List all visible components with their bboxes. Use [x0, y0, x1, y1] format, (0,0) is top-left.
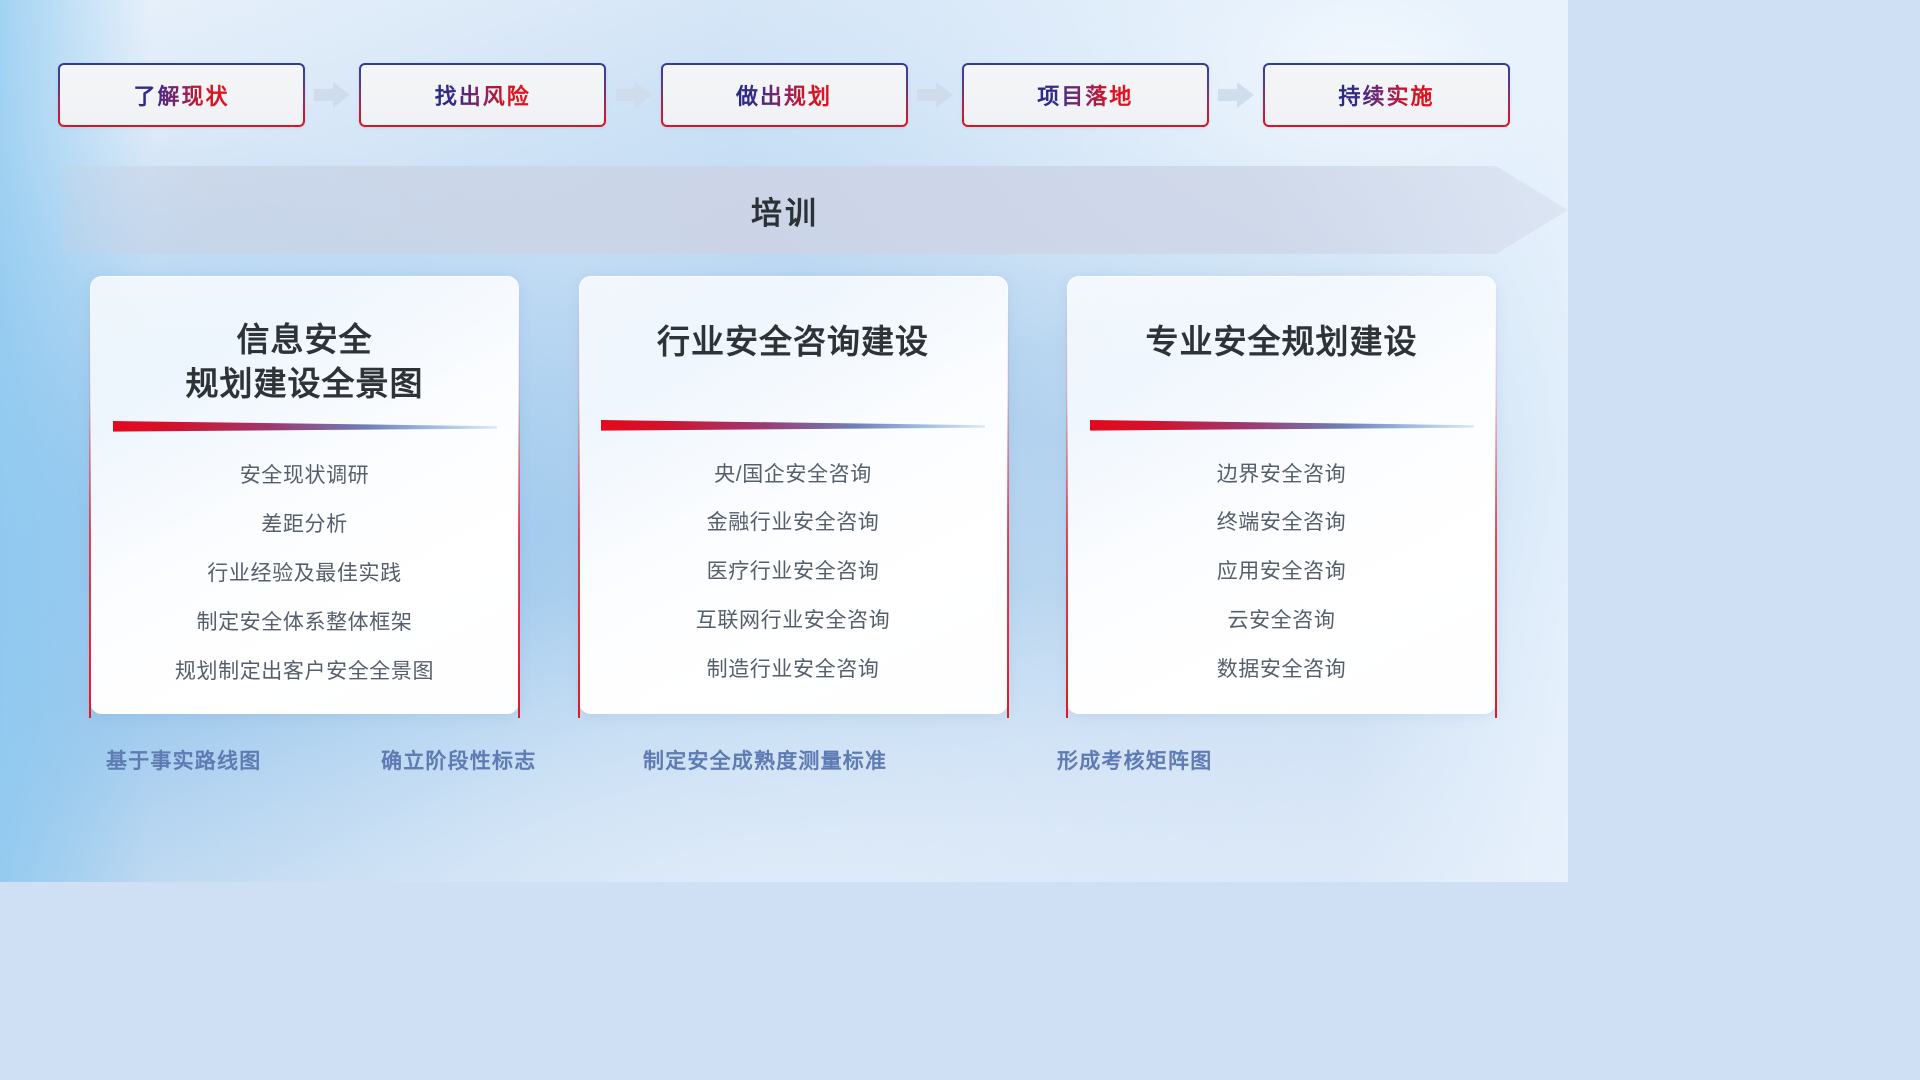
- service-card-list: 央/国企安全咨询金融行业安全咨询医疗行业安全咨询互联网行业安全咨询制造行业安全咨…: [696, 455, 890, 692]
- list-item: 安全现状调研: [240, 456, 370, 497]
- list-item: 制定安全体系整体框架: [196, 603, 412, 644]
- outcome-caption-3: 制定安全成熟度测量标准: [643, 745, 887, 775]
- right-arrow-icon: [1218, 82, 1254, 108]
- list-item: 央/国企安全咨询: [714, 455, 872, 496]
- list-item: 医疗行业安全咨询: [707, 552, 880, 593]
- process-step-5: 持续实施: [1209, 63, 1510, 127]
- process-step-label: 找出风险: [435, 79, 531, 111]
- process-step-box[interactable]: 项目落地: [962, 63, 1209, 127]
- list-item: 边界安全咨询: [1217, 455, 1347, 496]
- card-row: 信息安全 规划建设全景图安全现状调研差距分析行业经验及最佳实践制定安全体系整体框…: [90, 276, 1496, 718]
- outcome-caption-1: 基于事实路线图: [106, 745, 261, 775]
- right-arrow-icon: [616, 82, 652, 108]
- right-arrow-icon: [314, 82, 350, 108]
- service-card-title: 行业安全咨询建设: [657, 320, 929, 364]
- list-item: 规划制定出客户安全全景图: [175, 652, 434, 693]
- process-step-box[interactable]: 做出规划: [661, 63, 908, 127]
- training-band: 培训: [62, 160, 1568, 260]
- service-card-title: 专业安全规划建设: [1146, 320, 1418, 364]
- process-step-3: 做出规划: [607, 63, 908, 127]
- service-card-inner: 专业安全规划建设边界安全咨询终端安全咨询应用安全咨询云安全咨询数据安全咨询: [1067, 276, 1496, 714]
- service-card-title: 信息安全 规划建设全景图: [186, 318, 424, 405]
- caption-row: 基于事实路线图确立阶段性标志制定安全成熟度测量标准形成考核矩阵图: [0, 745, 1568, 789]
- gradient-wedge-divider: [601, 418, 985, 433]
- process-step-row: 了解现状找出风险做出规划项目落地持续实施: [58, 62, 1510, 128]
- service-card-list: 边界安全咨询终端安全咨询应用安全咨询云安全咨询数据安全咨询: [1217, 455, 1347, 692]
- list-item: 互联网行业安全咨询: [696, 601, 890, 642]
- right-arrow-icon: [917, 82, 953, 108]
- slide-stage: 了解现状找出风险做出规划项目落地持续实施 培训 信息安全 规划建设全景图安全现状…: [0, 0, 1568, 882]
- list-item: 金融行业安全咨询: [707, 503, 880, 544]
- process-step-box[interactable]: 了解现状: [58, 63, 305, 127]
- process-step-box[interactable]: 持续实施: [1263, 63, 1510, 127]
- process-step-4: 项目落地: [908, 63, 1209, 127]
- band-title: 培训: [62, 160, 1508, 260]
- gradient-wedge-divider: [1090, 418, 1474, 433]
- list-item: 云安全咨询: [1227, 601, 1335, 642]
- list-item: 行业经验及最佳实践: [207, 554, 401, 595]
- process-step-label: 了解现状: [133, 79, 229, 111]
- process-step-label: 持续实施: [1338, 79, 1434, 111]
- service-card-list: 安全现状调研差距分析行业经验及最佳实践制定安全体系整体框架规划制定出客户安全全景…: [175, 456, 434, 693]
- process-step-box[interactable]: 找出风险: [359, 63, 606, 127]
- service-card-2[interactable]: 行业安全咨询建设央/国企安全咨询金融行业安全咨询医疗行业安全咨询互联网行业安全咨…: [579, 276, 1008, 714]
- list-item: 差距分析: [261, 505, 347, 546]
- service-card-1[interactable]: 信息安全 规划建设全景图安全现状调研差距分析行业经验及最佳实践制定安全体系整体框…: [90, 276, 519, 714]
- list-item: 制造行业安全咨询: [707, 650, 880, 691]
- outcome-caption-2: 确立阶段性标志: [381, 745, 536, 775]
- service-card-inner: 信息安全 规划建设全景图安全现状调研差距分析行业经验及最佳实践制定安全体系整体框…: [90, 276, 519, 714]
- list-item: 终端安全咨询: [1217, 503, 1347, 544]
- service-card-inner: 行业安全咨询建设央/国企安全咨询金融行业安全咨询医疗行业安全咨询互联网行业安全咨…: [579, 276, 1008, 714]
- process-step-1: 了解现状: [58, 63, 305, 127]
- service-card-3[interactable]: 专业安全规划建设边界安全咨询终端安全咨询应用安全咨询云安全咨询数据安全咨询: [1067, 276, 1496, 714]
- outcome-caption-4: 形成考核矩阵图: [1057, 745, 1212, 775]
- process-step-2: 找出风险: [305, 63, 606, 127]
- list-item: 数据安全咨询: [1217, 650, 1347, 691]
- gradient-wedge-divider: [113, 419, 497, 434]
- process-step-label: 做出规划: [736, 79, 832, 111]
- process-step-label: 项目落地: [1037, 79, 1133, 111]
- list-item: 应用安全咨询: [1217, 552, 1347, 593]
